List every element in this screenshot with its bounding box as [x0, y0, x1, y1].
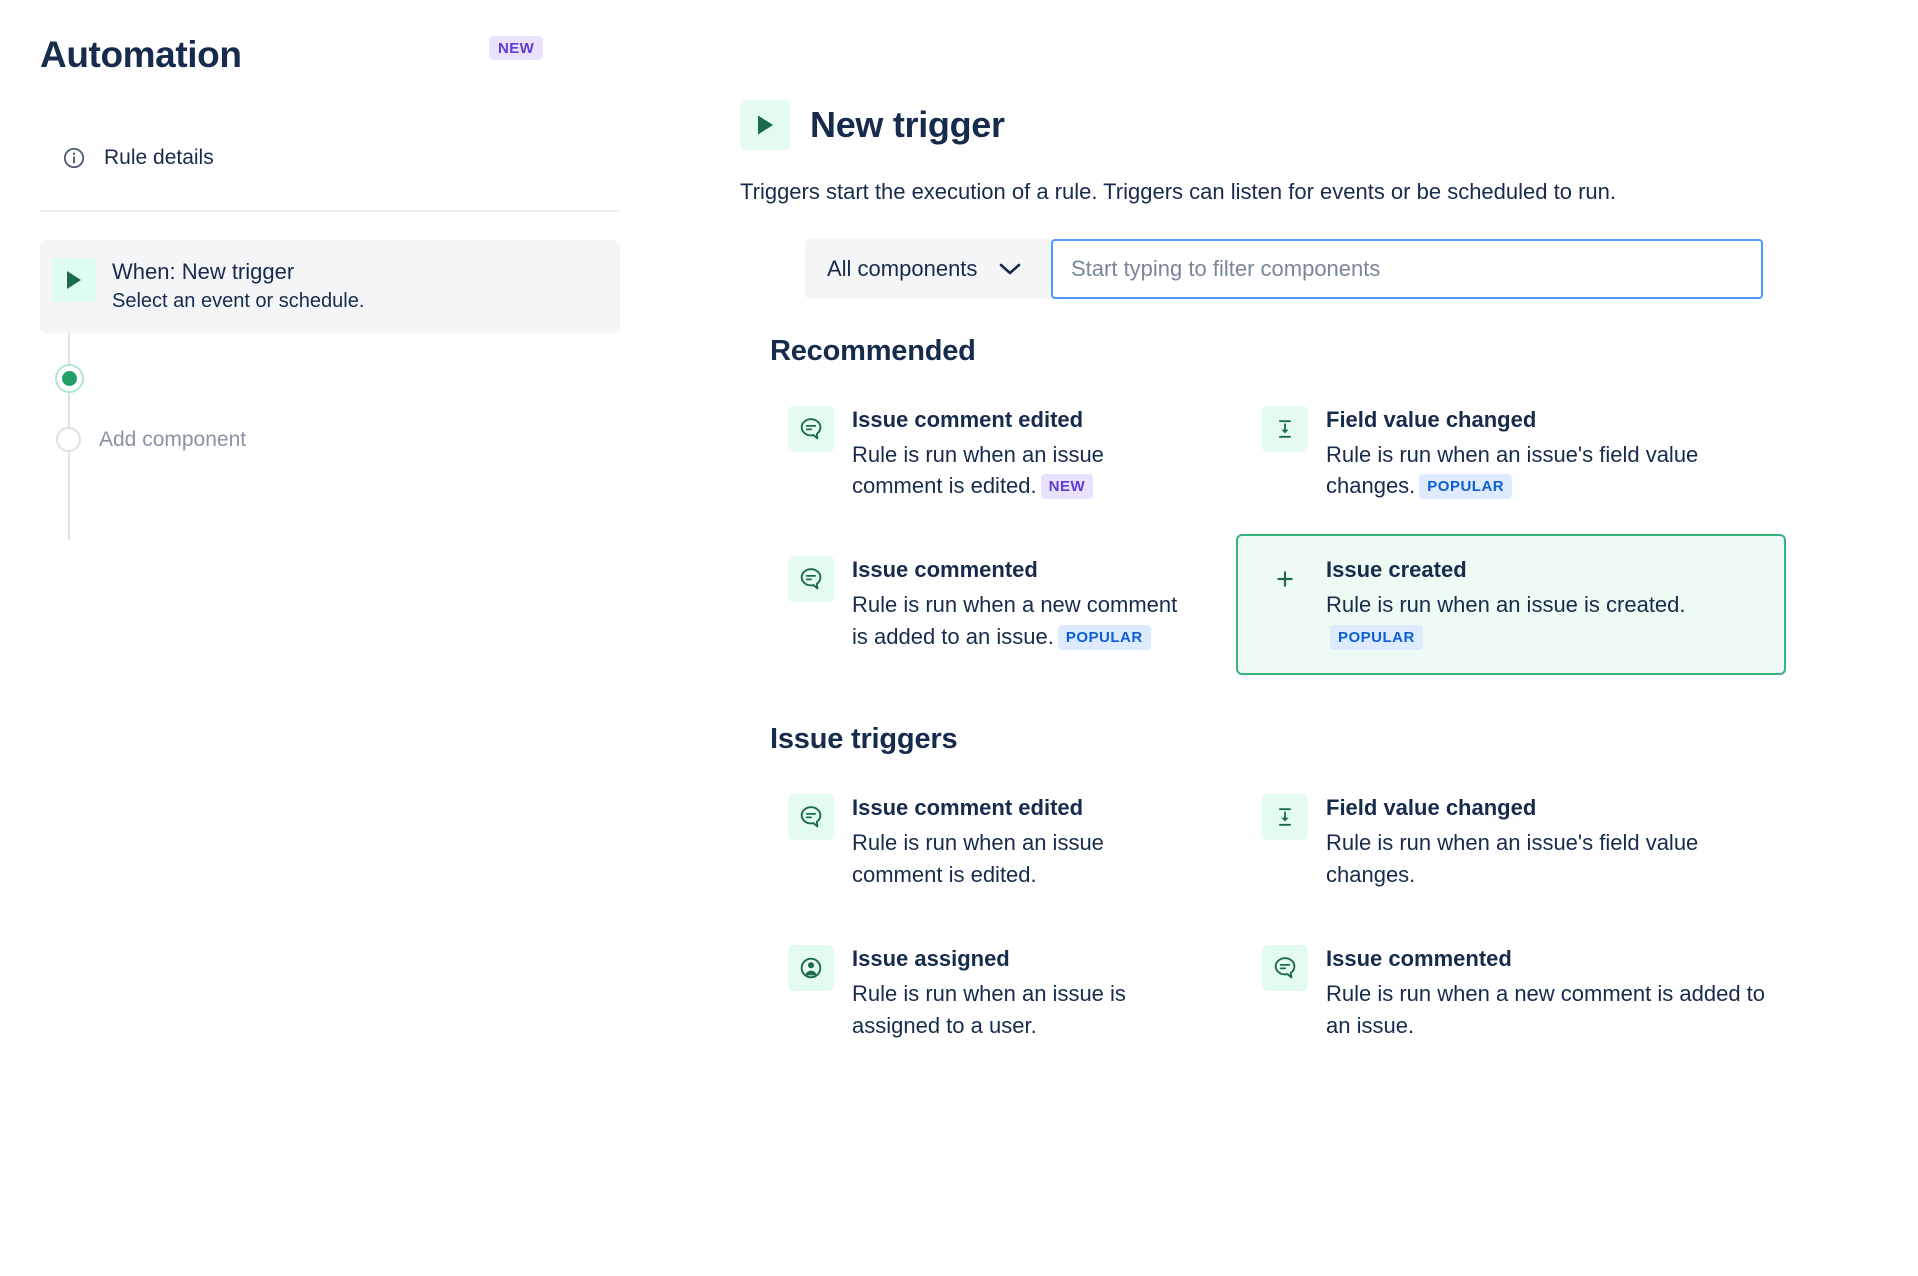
card-title: Issue commented: [852, 557, 1188, 583]
add-component-label: Add component: [99, 428, 246, 452]
sidebar-header: Automation NEW: [40, 26, 620, 82]
card-body: Issue assigned Rule is run when an issue…: [852, 945, 1188, 1042]
card-description: Rule is run when an issue is assigned to…: [852, 978, 1188, 1042]
card-body: Issue created Rule is run when an issue …: [1326, 556, 1766, 653]
panel-description: Triggers start the execution of a rule. …: [740, 178, 1878, 207]
card-description: Rule is run when an issue's field value …: [1326, 439, 1766, 503]
connector-dot-outer: [55, 364, 84, 393]
panel-title: New trigger: [810, 104, 1005, 146]
card-body: Issue commented Rule is run when a new c…: [1326, 945, 1766, 1042]
sidebar-divider: [40, 210, 620, 212]
component-type-select-value: All components: [827, 256, 977, 282]
section-heading-recommended: Recommended: [770, 335, 1878, 368]
plus-icon: [1262, 556, 1308, 602]
card-title: Issue comment edited: [852, 407, 1188, 433]
rule-details-label: Rule details: [104, 146, 214, 170]
chevron-down-icon: [999, 256, 1021, 282]
panel-header: New trigger: [740, 100, 1878, 150]
status-badge: NEW: [1041, 474, 1094, 499]
card-title: Issue comment edited: [852, 795, 1188, 821]
add-component-dot-icon: [56, 427, 81, 452]
rule-builder-sidebar: Automation NEW Rule details When: [0, 0, 660, 1276]
card-desc-text: Rule is run when an issue is created.: [1326, 592, 1686, 617]
issue-triggers-cards-grid: Issue comment edited Rule is run when an…: [762, 772, 1878, 1063]
trigger-card-issue-created[interactable]: Issue created Rule is run when an issue …: [1236, 534, 1786, 675]
trigger-card-issue-comment-edited[interactable]: Issue comment edited Rule is run when an…: [762, 384, 1208, 525]
tree-node-when-trigger[interactable]: When: New trigger Select an event or sch…: [40, 240, 620, 333]
card-title: Field value changed: [1326, 407, 1766, 433]
component-filter-row: All components: [805, 239, 1878, 299]
tree-node-subtitle: Select an event or schedule.: [112, 289, 364, 313]
automation-trigger-picker-page: Automation NEW Rule details When: [0, 0, 1918, 1276]
card-description: Rule is run when an issue comment is edi…: [852, 827, 1188, 891]
recommended-cards-grid: Issue comment edited Rule is run when an…: [762, 384, 1878, 675]
new-trigger-panel: New trigger Triggers start the execution…: [660, 0, 1918, 1276]
trigger-card-issue-assigned[interactable]: Issue assigned Rule is run when an issue…: [762, 923, 1208, 1064]
status-badge: POPULAR: [1419, 474, 1512, 499]
section-heading-issue-triggers: Issue triggers: [770, 723, 1878, 756]
person-assigned-icon: [788, 945, 834, 991]
page-title: Automation: [40, 36, 242, 73]
trigger-card-field-value-changed-2[interactable]: Field value changed Rule is run when an …: [1236, 772, 1786, 913]
tree-connector-line: [68, 312, 70, 540]
card-body: Field value changed Rule is run when an …: [1326, 794, 1766, 891]
card-title: Issue assigned: [852, 946, 1188, 972]
card-description: Rule is run when an issue comment is edi…: [852, 439, 1188, 503]
play-icon: [740, 100, 790, 150]
comment-edited-icon: [788, 406, 834, 452]
card-desc-text: Rule is run when an issue's field value …: [1326, 442, 1698, 499]
card-description: Rule is run when a new comment is added …: [852, 589, 1188, 653]
card-body: Issue commented Rule is run when a new c…: [852, 556, 1188, 653]
trigger-card-issue-commented-2[interactable]: Issue commented Rule is run when a new c…: [1236, 923, 1786, 1064]
status-badge: POPULAR: [1058, 625, 1151, 650]
add-component-button[interactable]: Add component: [54, 427, 620, 452]
component-filter-input[interactable]: [1051, 239, 1763, 299]
comment-edited-icon: [788, 794, 834, 840]
status-badge: POPULAR: [1330, 625, 1423, 650]
tree-node-text: When: New trigger Select an event or sch…: [112, 258, 364, 313]
card-title: Field value changed: [1326, 795, 1766, 821]
field-value-changed-icon: [1262, 406, 1308, 452]
card-body: Issue comment edited Rule is run when an…: [852, 406, 1188, 503]
tree-node-connector-dot[interactable]: [54, 363, 84, 393]
card-title: Issue commented: [1326, 946, 1766, 972]
card-description: Rule is run when an issue is created.POP…: [1326, 589, 1766, 653]
sidebar-item-rule-details[interactable]: Rule details: [40, 140, 620, 176]
trigger-card-issue-commented[interactable]: Issue commented Rule is run when a new c…: [762, 534, 1208, 675]
info-icon: [62, 146, 86, 170]
card-body: Field value changed Rule is run when an …: [1326, 406, 1766, 503]
trigger-card-issue-comment-edited-2[interactable]: Issue comment edited Rule is run when an…: [762, 772, 1208, 913]
card-description: Rule is run when a new comment is added …: [1326, 978, 1766, 1042]
card-body: Issue comment edited Rule is run when an…: [852, 794, 1188, 891]
connector-dot-inner: [62, 371, 77, 386]
component-type-select[interactable]: All components: [805, 239, 1051, 299]
tree-node-title: When: New trigger: [112, 259, 364, 284]
comment-icon: [1262, 945, 1308, 991]
new-badge: NEW: [489, 36, 543, 60]
field-value-changed-icon: [1262, 794, 1308, 840]
comment-icon: [788, 556, 834, 602]
card-title: Issue created: [1326, 557, 1766, 583]
rule-tree: When: New trigger Select an event or sch…: [40, 240, 620, 452]
play-icon: [52, 258, 96, 302]
trigger-card-field-value-changed[interactable]: Field value changed Rule is run when an …: [1236, 384, 1786, 525]
card-description: Rule is run when an issue's field value …: [1326, 827, 1766, 891]
